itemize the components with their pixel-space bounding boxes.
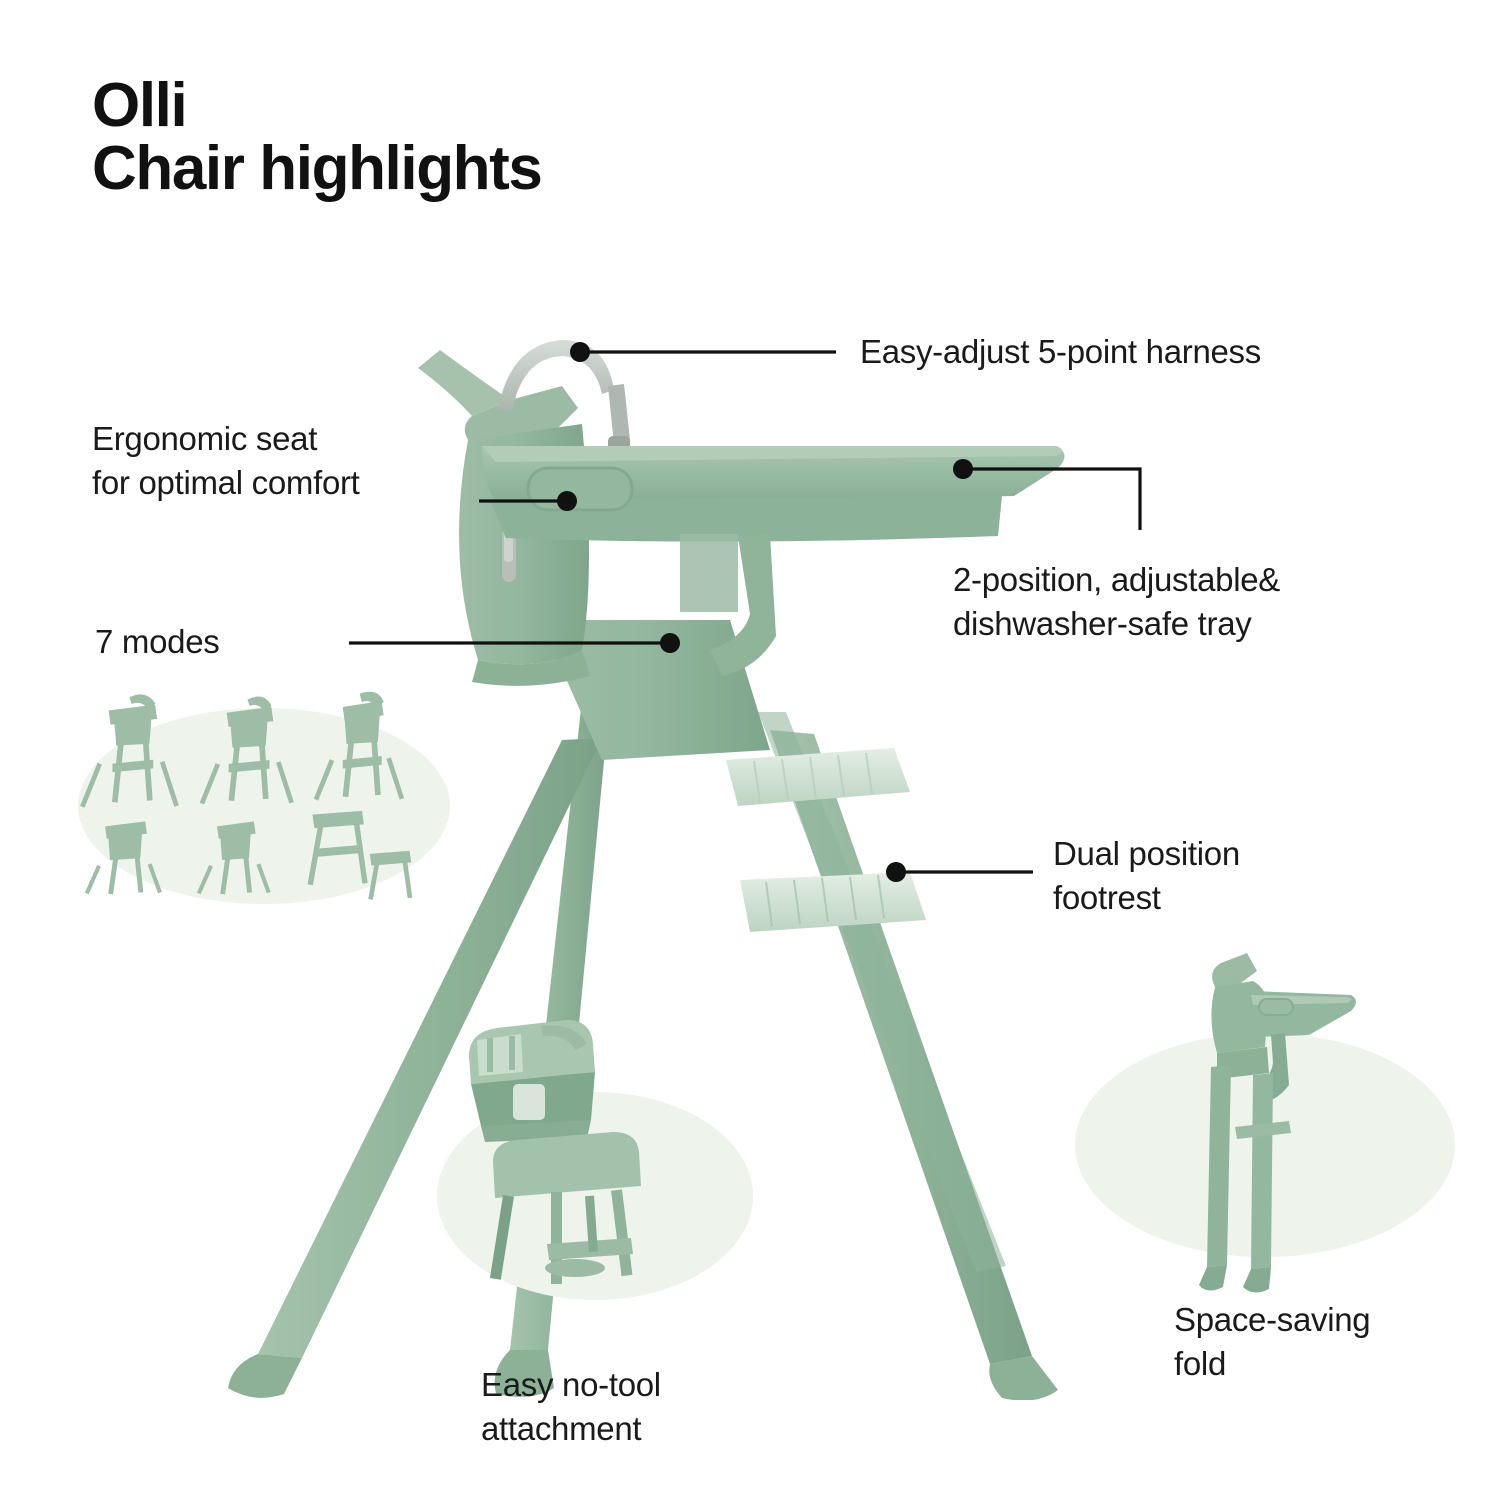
callout-fold: Space-saving fold: [1174, 1298, 1370, 1385]
infographic-page: Olli Chair highlights: [0, 0, 1500, 1500]
footrest-upper: [726, 748, 910, 806]
title-line-1: Olli: [92, 74, 541, 137]
no-tool-attachment-inset: [425, 1010, 755, 1310]
callout-ergonomic-line-2: for optimal comfort: [92, 461, 360, 505]
callout-tray-line-1: 2-position, adjustable&: [953, 558, 1280, 602]
callout-ergonomic-seat: Ergonomic seat for optimal comfort: [92, 417, 360, 504]
callout-fold-line-1: Space-saving: [1174, 1298, 1370, 1342]
callout-attachment-line-2: attachment: [481, 1407, 661, 1451]
callout-attachment-line-1: Easy no-tool: [481, 1363, 661, 1407]
callout-harness: Easy-adjust 5-point harness: [860, 330, 1261, 374]
callout-attachment: Easy no-tool attachment: [481, 1363, 661, 1450]
callout-footrest-line-2: footrest: [1053, 876, 1240, 920]
space-saving-fold-inset: [1075, 935, 1465, 1305]
callout-tray-line-2: dishwasher-safe tray: [953, 602, 1280, 646]
detachable-seat-module: [469, 1020, 595, 1142]
callout-modes-line-1: 7 modes: [95, 620, 219, 664]
title-line-2: Chair highlights: [92, 137, 541, 200]
callout-modes: 7 modes: [95, 620, 219, 664]
callout-tray: 2-position, adjustable& dishwasher-safe …: [953, 558, 1280, 645]
seven-modes-inset: [78, 678, 450, 928]
callout-fold-line-2: fold: [1174, 1342, 1370, 1386]
footrest-lower: [740, 872, 926, 932]
page-title: Olli Chair highlights: [92, 74, 541, 200]
callout-ergonomic-line-1: Ergonomic seat: [92, 417, 360, 461]
callout-footrest-line-1: Dual position: [1053, 832, 1240, 876]
callout-footrest: Dual position footrest: [1053, 832, 1240, 919]
callout-harness-line-1: Easy-adjust 5-point harness: [860, 330, 1261, 374]
